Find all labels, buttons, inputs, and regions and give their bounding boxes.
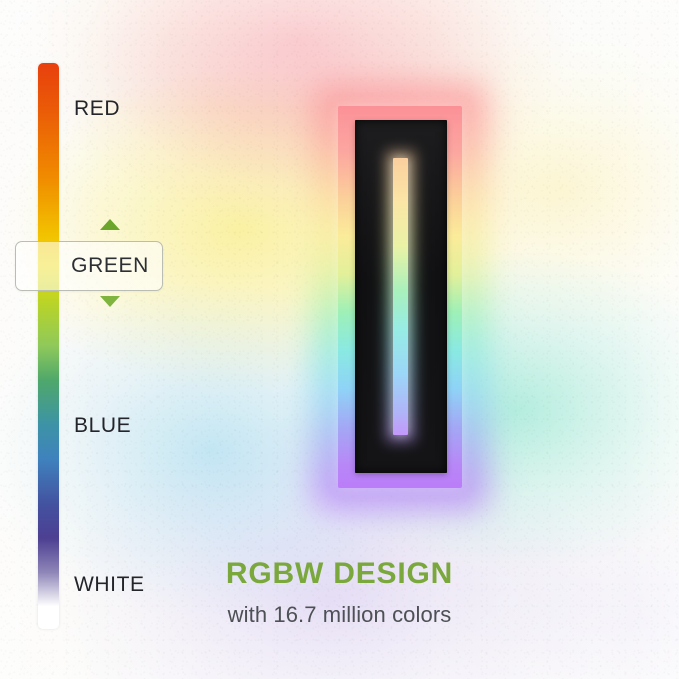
color-slider-track[interactable] [38,63,59,629]
slider-label-red: RED [74,97,120,121]
triangle-up-icon[interactable] [100,219,120,230]
slider-label-blue: BLUE [74,414,131,438]
color-slider-value-label: GREEN [29,254,149,278]
page-subtitle: with 16.7 million colors [0,602,679,628]
lamp-light-strip [393,158,408,435]
page-title: RGBW DESIGN [0,557,679,591]
triangle-down-icon[interactable] [100,296,120,307]
color-slider-value-chip[interactable]: GREEN [15,241,163,291]
rgbw-wall-lamp [338,106,462,488]
product-feature-scene: RED BLUE WHITE GREEN RGBW DESIGN with 16… [0,0,679,679]
